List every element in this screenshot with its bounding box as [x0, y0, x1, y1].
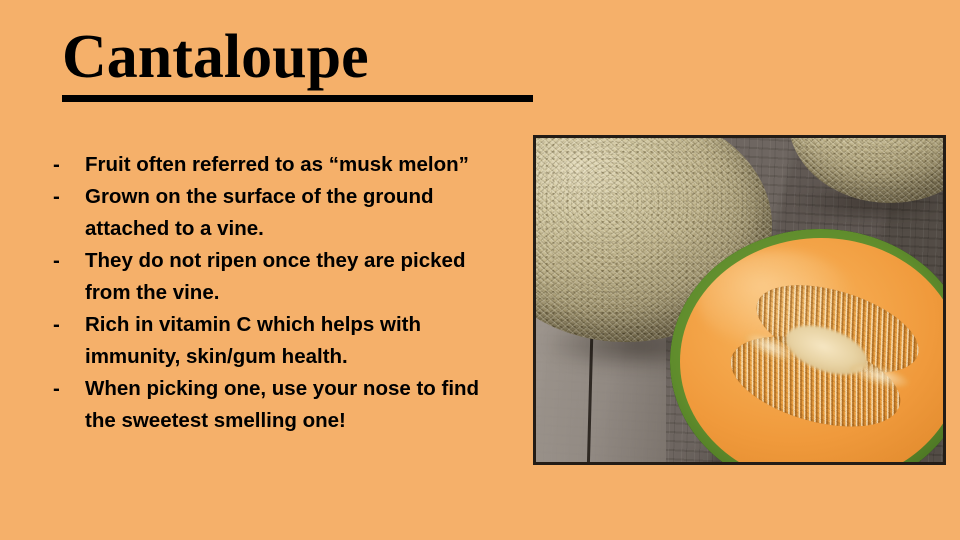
slide: Cantaloupe - Fruit often referred to as …	[0, 0, 960, 540]
photo-canvas	[536, 138, 943, 462]
bullet-dash-icon: -	[53, 373, 60, 405]
list-item: - Rich in vitamin C which helps with imm…	[50, 309, 490, 373]
bullet-dash-icon: -	[53, 149, 60, 181]
list-item-label: Grown on the surface of the ground attac…	[85, 185, 434, 240]
melon-flesh	[680, 238, 943, 462]
bullet-list: - Fruit often referred to as “musk melon…	[50, 149, 490, 437]
title-block: Cantaloupe	[62, 24, 622, 90]
title-underline	[62, 95, 533, 102]
list-item-label: They do not ripen once they are picked f…	[85, 249, 465, 304]
list-item: - Fruit often referred to as “musk melon…	[50, 149, 490, 181]
page-title: Cantaloupe	[62, 24, 622, 90]
cantaloupe-photo	[533, 135, 946, 465]
bullet-dash-icon: -	[53, 309, 60, 341]
list-item: - When picking one, use your nose to fin…	[50, 373, 490, 437]
list-item: - Grown on the surface of the ground att…	[50, 181, 490, 245]
list-item-label: Fruit often referred to as “musk melon”	[85, 153, 469, 176]
bullet-dash-icon: -	[53, 245, 60, 277]
bullet-dash-icon: -	[53, 181, 60, 213]
list-item: - They do not ripen once they are picked…	[50, 245, 490, 309]
list-item-label: When picking one, use your nose to find …	[85, 377, 479, 432]
list-item-label: Rich in vitamin C which helps with immun…	[85, 313, 421, 368]
